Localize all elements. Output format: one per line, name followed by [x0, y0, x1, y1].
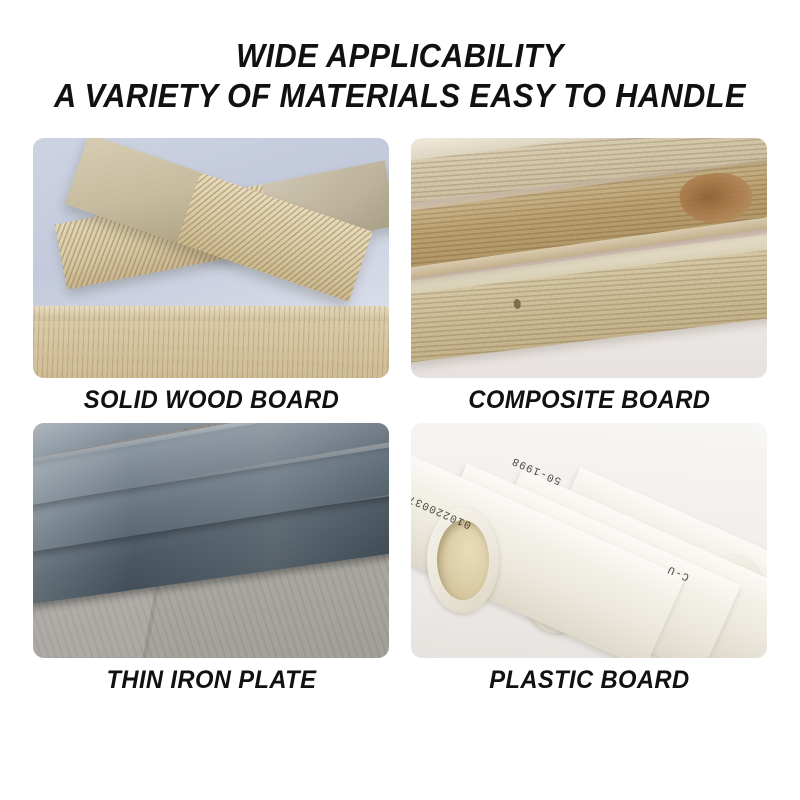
material-card-composite-board[interactable]: COMPOSITE BOARD — [411, 138, 767, 423]
pvc-pipe-1-bore — [437, 520, 489, 600]
caption-plastic-board: PLASTIC BOARD — [411, 658, 767, 703]
title-line-secondary: A VARIETY OF MATERIALS EASY TO HANDLE — [28, 76, 772, 116]
photo-thin-iron-plate — [33, 423, 389, 658]
wood-grain-texture — [33, 306, 389, 378]
material-card-plastic-board[interactable]: 010220037 50-1998 C-U PLASTIC BOARD — [411, 423, 767, 703]
infographic-page: WIDE APPLICABILITY A VARIETY OF MATERIAL… — [0, 0, 800, 800]
material-card-thin-iron-plate[interactable]: THIN IRON PLATE — [33, 423, 389, 703]
caption-text: PLASTIC BOARD — [489, 666, 689, 695]
material-card-solid-wood-board[interactable]: SOLID WOOD BOARD — [33, 138, 389, 423]
wood-plank-bottom — [33, 306, 389, 378]
photo-composite-board — [411, 138, 767, 378]
title-line-primary: WIDE APPLICABILITY — [28, 36, 772, 76]
caption-composite-board: COMPOSITE BOARD — [411, 378, 767, 423]
caption-text: SOLID WOOD BOARD — [83, 386, 338, 415]
caption-solid-wood-board: SOLID WOOD BOARD — [33, 378, 389, 423]
caption-text: COMPOSITE BOARD — [468, 386, 710, 415]
photo-plastic-board: 010220037 50-1998 C-U — [411, 423, 767, 658]
materials-grid: SOLID WOOD BOARD — [33, 138, 767, 703]
photo-solid-wood-board — [33, 138, 389, 378]
caption-thin-iron-plate: THIN IRON PLATE — [33, 658, 389, 703]
caption-text: THIN IRON PLATE — [106, 666, 316, 695]
page-title: WIDE APPLICABILITY A VARIETY OF MATERIAL… — [0, 36, 800, 117]
